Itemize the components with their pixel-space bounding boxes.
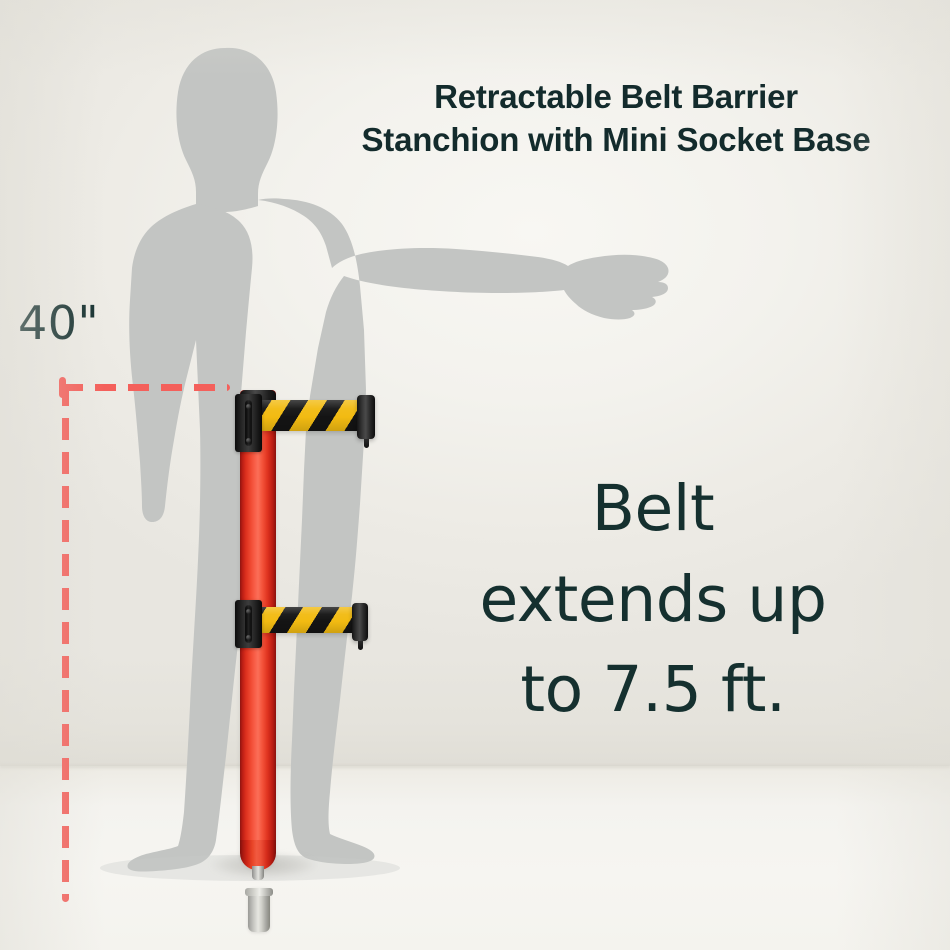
tagline-line-3: to 7.5 ft.	[438, 645, 868, 736]
post-mounting-pin	[252, 866, 264, 880]
belt-cassette-lower	[235, 600, 262, 648]
cassette-screw	[246, 404, 251, 409]
belt-upper	[262, 400, 362, 431]
product-title: Retractable Belt Barrier Stanchion with …	[296, 76, 936, 162]
tagline-line-1: Belt	[438, 464, 868, 555]
belt-clip-tip	[364, 439, 369, 448]
belt-clip-tip	[358, 641, 363, 650]
cassette-screw	[246, 609, 251, 614]
mini-socket-base	[248, 888, 270, 932]
tagline-line-2: extends up	[438, 555, 868, 646]
cassette-screw	[246, 438, 251, 443]
belt-clip-lower	[352, 603, 368, 641]
cassette-screw	[246, 635, 251, 640]
belt-clip-upper	[357, 395, 375, 439]
belt-extension-tagline: Belt extends up to 7.5 ft.	[438, 464, 868, 736]
belt-cassette-upper	[235, 394, 262, 452]
product-title-line-2: Stanchion with Mini Socket Base	[296, 119, 936, 162]
infographic-scene: 40" Retractable Belt Bar	[0, 0, 950, 950]
product-title-line-1: Retractable Belt Barrier	[296, 76, 936, 119]
belt-lower	[262, 607, 360, 633]
